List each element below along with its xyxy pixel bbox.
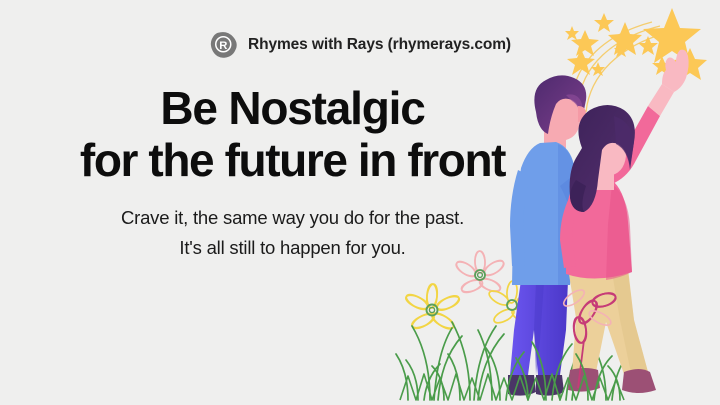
woman-neck <box>592 168 614 190</box>
poster-canvas: R Rhymes with Rays (rhymerays.com) Be No… <box>0 0 720 405</box>
brand-header: R Rhymes with Rays (rhymerays.com) <box>0 30 720 60</box>
logo-letter: R <box>219 40 227 52</box>
stone-blob-logo-icon: R <box>209 30 239 60</box>
woman-head <box>588 116 626 176</box>
yellow-flower-left <box>404 283 461 331</box>
grass-front <box>406 342 620 400</box>
man-shoe-right <box>536 375 564 396</box>
grass-back <box>396 322 630 400</box>
woman-shoe-right <box>622 369 656 393</box>
man-pants <box>510 280 568 375</box>
page-subtitle: Crave it, the same way you do for the pa… <box>0 203 585 263</box>
brand-name-label: Rhymes with Rays (rhymerays.com) <box>248 36 511 54</box>
page-title: Be Nostalgic for the future in front <box>0 82 585 186</box>
woman-forearm <box>648 84 674 116</box>
woman-raised-arm <box>606 106 660 184</box>
subtitle-line-2: It's all still to happen for you. <box>0 233 585 263</box>
woman-pants <box>568 268 648 380</box>
subtitle-line-1: Crave it, the same way you do for the pa… <box>0 203 585 233</box>
headline-line-1: Be Nostalgic <box>0 82 585 134</box>
headline-line-2: for the future in front <box>0 134 585 186</box>
pink-petal-front <box>561 287 613 328</box>
magenta-flower <box>572 290 617 388</box>
woman-shoe-left <box>568 368 600 392</box>
yellow-flower-right <box>487 281 538 326</box>
grass-baseline <box>400 374 624 400</box>
man-shoe-left <box>508 375 536 396</box>
